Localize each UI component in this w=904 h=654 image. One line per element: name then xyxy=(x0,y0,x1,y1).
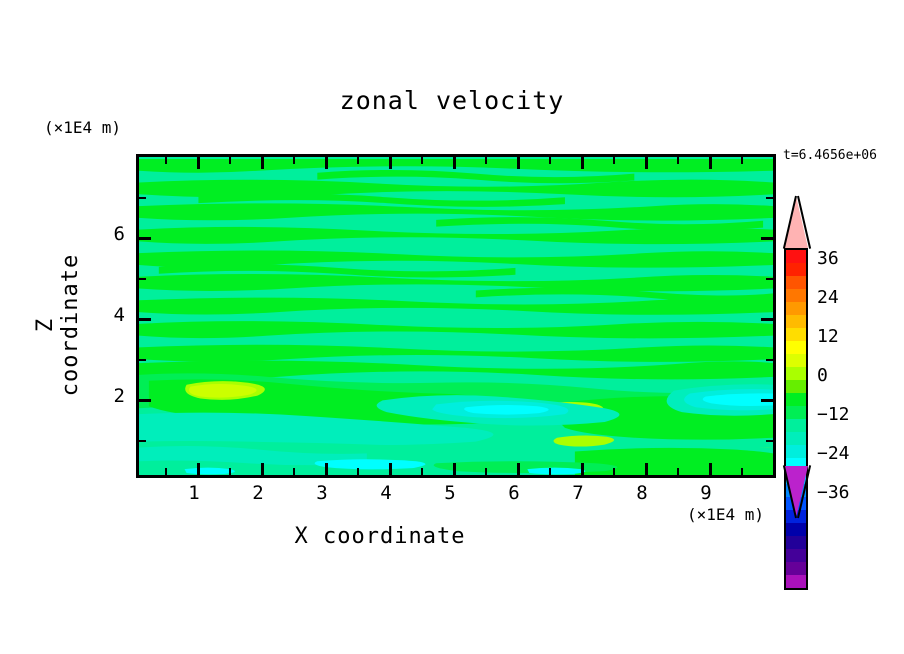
x-axis-title: X coordinate xyxy=(0,524,760,549)
y-tick-right-minor xyxy=(766,440,773,442)
x-tick-label: 7 xyxy=(563,482,593,504)
x-tick-major xyxy=(453,463,456,475)
time-annotation: t=6.4656e+06 xyxy=(783,148,877,163)
x-tick-top-major xyxy=(709,157,712,169)
x-tick-major xyxy=(197,463,200,475)
x-tick-label: 4 xyxy=(371,482,401,504)
x-tick-top-minor xyxy=(229,157,231,164)
colorbar-band-22 xyxy=(784,536,808,549)
x-tick-top-minor xyxy=(293,157,295,164)
colorbar-band-25 xyxy=(784,575,808,590)
x-tick-label: 8 xyxy=(627,482,657,504)
contour-plot-area xyxy=(136,154,776,478)
y-tick-minor xyxy=(139,278,146,280)
colorbar-label: −36 xyxy=(817,482,850,503)
colorbar-label: 12 xyxy=(817,326,839,347)
x-tick-top-minor xyxy=(485,157,487,164)
colorbar-band-0 xyxy=(784,248,808,263)
colorbar-band-15 xyxy=(784,445,808,458)
y-tick-major xyxy=(139,237,151,240)
y-tick-minor xyxy=(139,440,146,442)
y-tick-right-minor xyxy=(766,197,773,199)
x-tick-top-major xyxy=(453,157,456,169)
colorbar-band-5 xyxy=(784,315,808,328)
colorbar-band-23 xyxy=(784,549,808,562)
x-tick-label: 5 xyxy=(435,482,465,504)
x-tick-top-major xyxy=(581,157,584,169)
y-tick-major xyxy=(139,399,151,402)
x-tick-minor xyxy=(293,468,295,475)
x-axis-unit-label: (×1E4 m) xyxy=(687,505,764,524)
y-tick-label: 6 xyxy=(101,223,125,245)
colorbar-label: 24 xyxy=(817,287,839,308)
colorbar-band-1 xyxy=(784,263,808,276)
colorbar-band-8 xyxy=(784,354,808,367)
y-axis-title: Z coordinate xyxy=(33,245,83,405)
colorbar-band-7 xyxy=(784,341,808,354)
contour-field xyxy=(139,157,773,475)
x-tick-label: 9 xyxy=(691,482,721,504)
x-tick-top-minor xyxy=(357,157,359,164)
colorbar-label: −24 xyxy=(817,443,850,464)
colorbar-band-4 xyxy=(784,302,808,315)
x-tick-top-minor xyxy=(549,157,551,164)
y-tick-minor xyxy=(139,197,146,199)
colorbar-band-2 xyxy=(784,276,808,289)
y-tick-label: 4 xyxy=(101,304,125,326)
x-tick-major xyxy=(645,463,648,475)
colorbar-label: 0 xyxy=(817,365,828,386)
colorbar-band-9 xyxy=(784,367,808,380)
y-tick-label: 2 xyxy=(101,385,125,407)
x-tick-major xyxy=(389,463,392,475)
x-tick-label: 2 xyxy=(243,482,273,504)
chart-title: zonal velocity xyxy=(0,86,904,115)
colorbar-band-12 xyxy=(784,406,808,419)
colorbar-band-14 xyxy=(784,432,808,445)
y-tick-major xyxy=(139,318,151,321)
x-tick-major xyxy=(517,463,520,475)
x-tick-top-minor xyxy=(773,157,775,164)
y-tick-minor xyxy=(139,359,146,361)
x-tick-top-minor xyxy=(741,157,743,164)
x-tick-top-major xyxy=(389,157,392,169)
y-tick-right-minor xyxy=(766,359,773,361)
x-tick-minor xyxy=(549,468,551,475)
x-tick-top-major xyxy=(325,157,328,169)
x-tick-minor xyxy=(677,468,679,475)
colorbar-band-24 xyxy=(784,562,808,575)
x-tick-major xyxy=(581,463,584,475)
x-tick-minor xyxy=(485,468,487,475)
x-tick-minor xyxy=(741,468,743,475)
x-tick-minor xyxy=(357,468,359,475)
colorbar-label: −12 xyxy=(817,404,850,425)
x-tick-minor xyxy=(165,468,167,475)
colorbar-band-13 xyxy=(784,419,808,432)
x-tick-label: 6 xyxy=(499,482,529,504)
y-axis-unit-label: (×1E4 m) xyxy=(44,118,121,137)
x-tick-major xyxy=(261,463,264,475)
x-tick-minor xyxy=(421,468,423,475)
x-tick-top-major xyxy=(517,157,520,169)
x-tick-top-major xyxy=(261,157,264,169)
x-tick-minor xyxy=(613,468,615,475)
x-tick-top-minor xyxy=(613,157,615,164)
x-tick-minor xyxy=(229,468,231,475)
y-tick-right-major xyxy=(761,318,773,321)
colorbar-bands[interactable] xyxy=(784,248,808,590)
x-tick-top-major xyxy=(645,157,648,169)
x-tick-label: 3 xyxy=(307,482,337,504)
x-tick-top-minor xyxy=(165,157,167,164)
colorbar-label: 36 xyxy=(817,248,839,269)
x-tick-major xyxy=(709,463,712,475)
y-tick-right-major xyxy=(761,237,773,240)
x-tick-top-major xyxy=(197,157,200,169)
y-tick-right-minor xyxy=(766,278,773,280)
x-tick-major xyxy=(325,463,328,475)
colorbar-band-21 xyxy=(784,523,808,536)
colorbar[interactable] xyxy=(781,196,811,518)
colorbar-band-10 xyxy=(784,380,808,393)
x-tick-label: 1 xyxy=(179,482,209,504)
colorbar-band-11 xyxy=(784,393,808,406)
x-tick-top-minor xyxy=(421,157,423,164)
colorbar-band-3 xyxy=(784,289,808,302)
colorbar-band-6 xyxy=(784,328,808,341)
y-tick-right-major xyxy=(761,399,773,402)
x-tick-top-minor xyxy=(677,157,679,164)
x-tick-minor xyxy=(773,468,775,475)
